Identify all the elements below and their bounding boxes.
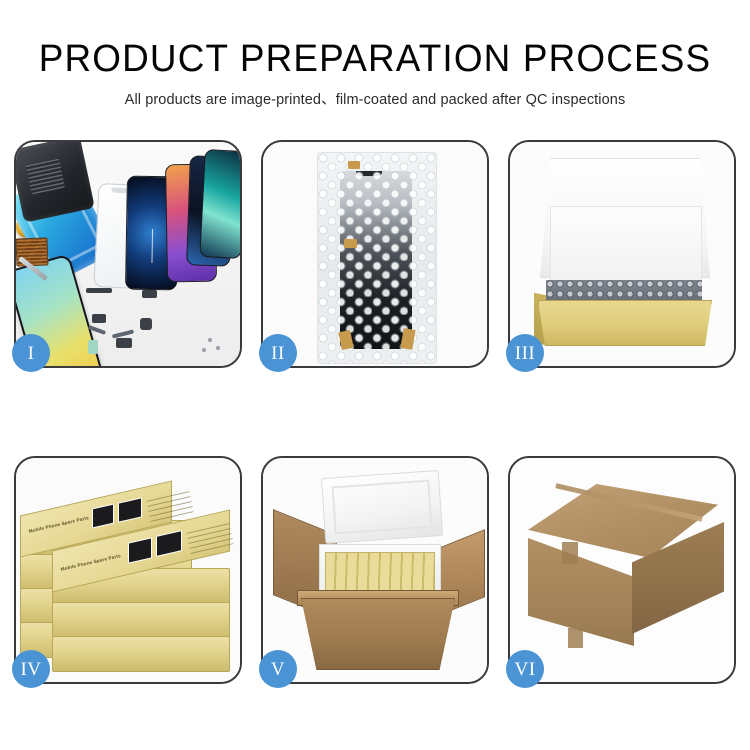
foam-cooler-carton-photo xyxy=(263,458,487,682)
step-numeral-5: V xyxy=(271,660,285,679)
inner-box-photo xyxy=(510,142,734,366)
carton-tape-upper xyxy=(562,542,578,564)
screw-part xyxy=(208,338,212,342)
sealed-carton-photo xyxy=(510,458,734,682)
bubble-wrap-bag-graphic xyxy=(317,152,437,364)
step-card-1[interactable]: I xyxy=(14,140,242,368)
battery-cell-part xyxy=(88,340,98,354)
step-badge-6: VI xyxy=(506,650,544,688)
stacked-box xyxy=(52,602,230,638)
phone-parts-photo xyxy=(16,142,240,366)
bubble-texture xyxy=(318,153,436,363)
screw-part xyxy=(216,346,220,350)
foam-sheet-graphic xyxy=(550,206,702,286)
page-title: PRODUCT PREPARATION PROCESS xyxy=(11,38,739,80)
step-numeral-6: VI xyxy=(514,660,535,679)
step-numeral-2: II xyxy=(271,344,285,363)
product-preparation-infographic: PRODUCT PREPARATION PROCESS All products… xyxy=(0,0,750,750)
small-chip-part xyxy=(92,314,106,323)
carton-tape-lower xyxy=(568,628,583,648)
speaker-part xyxy=(140,318,152,330)
step-card-2[interactable]: II xyxy=(261,140,489,368)
step-badge-2: II xyxy=(259,334,297,372)
step-card-4[interactable]: Mobile Phone Spare Parts Mobile Phone Sp… xyxy=(14,456,242,684)
teal-display-graphic xyxy=(199,149,240,259)
page-subtitle: All products are image-printed、film-coat… xyxy=(0,90,750,110)
stacked-boxes-photo: Mobile Phone Spare Parts Mobile Phone Sp… xyxy=(16,458,240,682)
camera-module-part xyxy=(142,290,157,298)
box-stack-graphic: Mobile Phone Spare Parts Mobile Phone Sp… xyxy=(18,472,240,676)
page-header: PRODUCT PREPARATION PROCESS All products… xyxy=(0,0,750,110)
process-step-grid: I II xyxy=(14,140,736,684)
step-card-3[interactable]: III xyxy=(508,140,736,368)
carton-body xyxy=(301,598,455,670)
tape-tab xyxy=(348,161,360,169)
step-numeral-3: III xyxy=(515,344,535,363)
step-numeral-1: I xyxy=(28,344,35,363)
yellow-box-base-graphic xyxy=(538,300,712,346)
tape-tab xyxy=(344,239,357,248)
bubble-wrap-photo xyxy=(263,142,487,366)
step-badge-1: I xyxy=(12,334,50,372)
step-badge-5: V xyxy=(259,650,297,688)
vibrator-part xyxy=(116,338,132,348)
connector-strip-part xyxy=(86,288,112,293)
stacked-box xyxy=(52,636,230,672)
step-card-6[interactable]: VI xyxy=(508,456,736,684)
step-badge-3: III xyxy=(506,334,544,372)
step-badge-4: IV xyxy=(12,650,50,688)
screw-part xyxy=(202,348,206,352)
step-card-5[interactable]: V xyxy=(261,456,489,684)
foam-cooler-lid xyxy=(321,470,443,544)
step-numeral-4: IV xyxy=(20,660,41,679)
